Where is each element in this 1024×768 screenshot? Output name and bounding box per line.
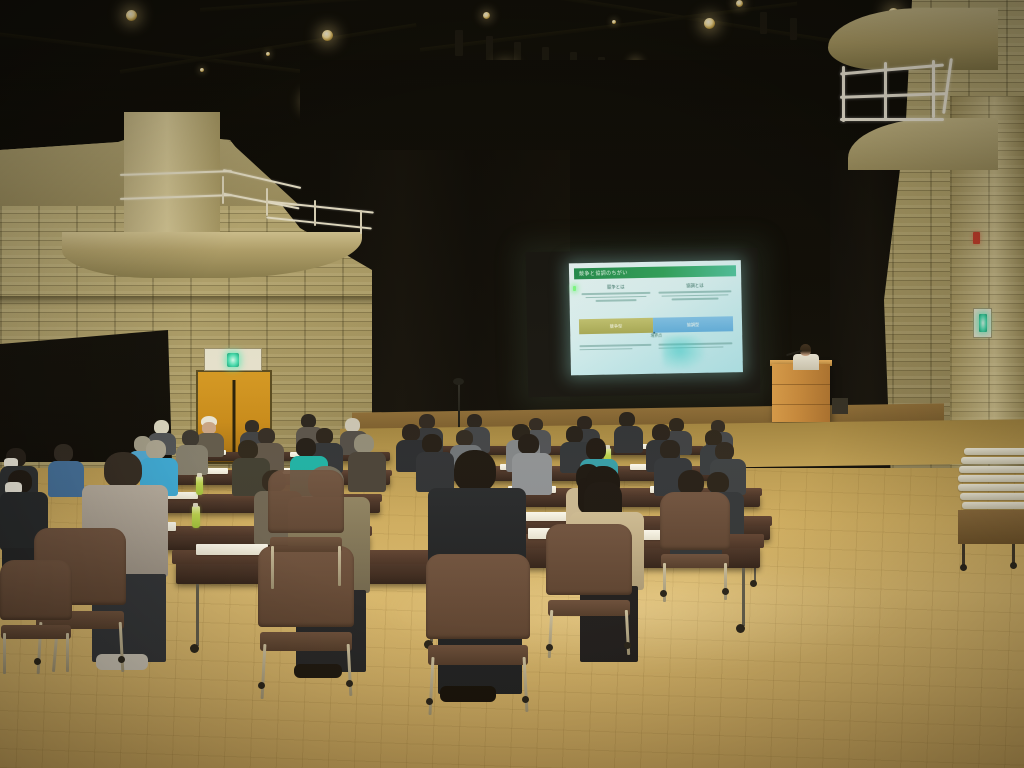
balcony-railing [266,216,372,229]
slide-bar-mid-label: 境界点 [651,334,662,339]
exit-icon [979,314,987,332]
attendee-head [660,440,680,459]
slide-column-left: 競争とは [576,284,655,303]
attendee-head [104,452,142,488]
upper-balcony-left [62,160,362,280]
balcony-railing [223,169,301,189]
slide-bar-left: 競争型 [579,318,653,334]
slide-bar-right: 協調型 [653,316,733,333]
chair [0,560,72,668]
balcony-column [124,112,220,242]
slide-column-left-title: 競争とは [576,284,655,292]
attendee-head [316,428,333,444]
attendee-head [619,412,635,427]
chair-back [426,554,530,639]
attendee-head [652,424,670,441]
cart-base [958,510,1024,544]
podium [772,364,830,422]
attendee-head [54,444,73,462]
attendee-head [586,438,606,460]
slide-footnote-left [579,344,655,353]
balcony-slab [828,8,998,70]
slide-column-right: 協調とは [655,282,734,301]
attendee-head [345,418,360,432]
exit-icon [227,353,239,367]
attendee-head [707,472,729,493]
attendee-body [614,426,643,453]
wall-shadow-band [0,296,372,306]
attendee-head [354,434,374,453]
upper-balcony-right [828,0,988,180]
ceiling-spotlight-icon [483,12,490,19]
water-bottle [192,506,200,528]
attendee-head [154,420,169,434]
chair-back [546,524,632,595]
attendee-head [454,450,496,492]
exit-sign-wall [973,308,992,338]
alarm-light-icon [973,232,980,244]
attendee-head [182,430,199,446]
attendee-head [419,414,435,429]
chair-seat [260,632,352,651]
balcony-railing [266,200,374,213]
attendee-head [146,440,166,459]
chair-seat [1,625,70,639]
projection-screen: 競争と協調のちがい 競争とは 協調とは 競争型 協調型 [526,248,761,397]
chair [268,470,344,582]
slide-comparison-bars: 競争型 協調型 [579,316,733,334]
ceiling-spotlight-icon [266,52,270,56]
slide-bar-right-label: 協調型 [687,321,700,327]
stacked-chairs [958,448,1024,510]
chair [660,492,730,596]
chair-seat [270,537,343,552]
microphone-stand [458,382,460,428]
attendee-head [518,434,539,454]
attendee-head [715,442,734,460]
chair-seat [661,554,728,568]
attendee-head [258,428,275,444]
stacked-chair-cart [958,448,1024,556]
presenter-body [793,354,819,370]
balcony-railing [840,118,944,121]
chair-back [660,492,730,550]
projector-glare [662,335,705,370]
slide-column-right-title: 協調とは [655,282,734,290]
chair-seat [548,600,631,616]
ceiling-spotlight-icon [704,18,715,29]
attendee-head [301,414,316,428]
attendee-head [238,440,258,459]
chair [546,524,632,650]
slide-bar-left-label: 競争型 [610,323,623,329]
slide-title: 競争と協調のちがい [579,269,628,277]
microphone-head-icon [453,378,464,385]
chair-seat [428,645,528,665]
projected-slide: 競争と協調のちがい 競争とは 協調とは 競争型 協調型 [569,260,743,375]
ceiling-spotlight-icon [322,30,333,41]
chair [426,554,530,706]
stage-equipment-box [832,398,848,414]
balcony-railing [840,92,946,99]
slide-title-bar: 競争と協調のちがい [574,265,736,279]
rig-bar [455,30,463,56]
laser-pointer-dot-icon [573,286,576,291]
attendee-head [669,418,684,432]
ceiling-spotlight-icon [612,20,616,24]
attendee-head [467,414,482,428]
attendee-body [416,452,454,492]
attendee-head [402,424,420,441]
ceiling-spotlight-icon [126,10,137,21]
ceiling-spotlight-icon [200,68,204,72]
balcony-slab [62,232,362,278]
attendee-body [348,452,386,492]
attendee-body [176,445,208,475]
ceiling-spotlight-icon [736,0,743,7]
door-handle[interactable] [233,380,236,454]
conference-hall-photo: 競争と協調のちがい 競争とは 協調とは 競争型 協調型 [0,0,1024,768]
attendee-body [48,461,84,497]
attendee-head [456,430,473,446]
balcony-railing [223,193,300,210]
attendee-head [566,426,583,443]
water-bottle [196,476,203,495]
balcony-base [848,118,998,170]
chair-back [268,470,344,533]
chair-back [0,560,72,620]
attendee-head [296,438,316,457]
exit-sign-door [204,348,262,371]
attendee-head [422,434,442,453]
